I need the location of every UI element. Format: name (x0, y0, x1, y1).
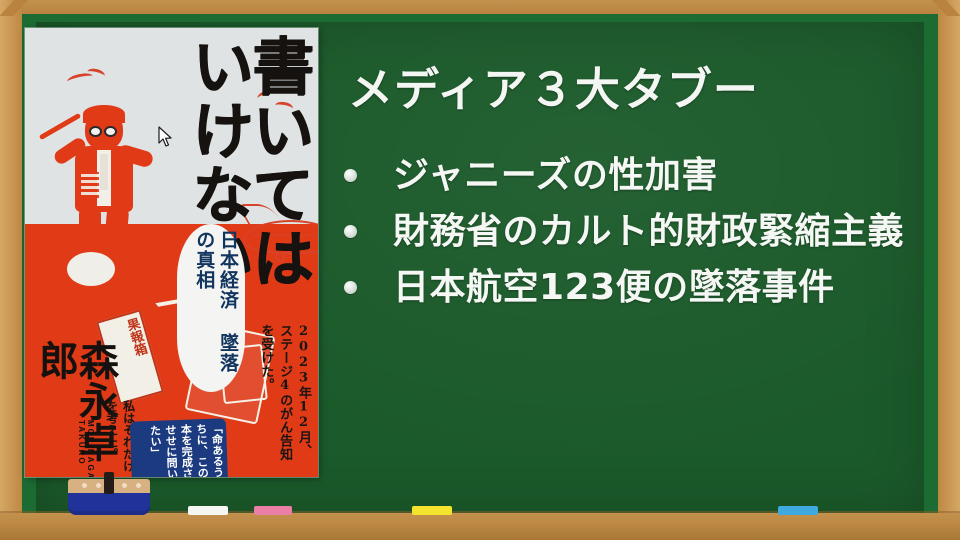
chalk-blue (778, 506, 818, 515)
bullet-label: ジャニーズの性加害 (393, 152, 718, 201)
cover-title-column-right: 書いては (248, 34, 306, 290)
cover-author-romaji: MORINAGA TAKURO (77, 420, 95, 477)
cover-blurb-right: 2023年12月、ステージ4のがん告知を受けた。 (255, 324, 312, 470)
bullet-dot-icon (344, 225, 357, 238)
bullet-dot-icon (344, 281, 357, 294)
chalk-white (188, 506, 228, 515)
cover-subtitle: 日本経済 墜落 の真相 (185, 230, 239, 386)
bullet-dot-icon (344, 169, 357, 182)
chalk-yellow (412, 506, 452, 515)
cover-illustration-man (59, 110, 151, 260)
bullet-label: 財務省のカルト的財政緊縮主義 (393, 208, 904, 257)
glasses-icon (104, 126, 117, 137)
book-cover-image: 果報箱 書いては いけない 日本経済 墜落 の真相 森永卓郎 MORINAGA … (25, 28, 318, 477)
eraser-handle (104, 472, 114, 494)
chalk-pink (254, 506, 292, 515)
list-item: 日本航空123便の墜落事件 (344, 264, 944, 313)
slide-title: メディア３大タブー (348, 64, 928, 116)
chalk-tray (0, 513, 960, 540)
glasses-icon (89, 126, 102, 137)
frame-top (0, 0, 960, 14)
slide-stage: 果報箱 書いては いけない 日本経済 墜落 の真相 森永卓郎 MORINAGA … (0, 0, 960, 540)
mouse-cursor-icon (158, 126, 174, 148)
frame-left (0, 0, 22, 540)
cover-quote-text: 「命あるうちに、この本を完成させせに問いたい」 (134, 422, 226, 477)
list-item: ジャニーズの性加害 (344, 152, 944, 201)
bullet-label: 日本航空123便の墜落事件 (393, 264, 835, 313)
list-item: 財務省のカルト的財政緊縮主義 (344, 208, 944, 257)
bullet-list: ジャニーズの性加害 財務省のカルト的財政緊縮主義 日本航空123便の墜落事件 (344, 152, 944, 320)
